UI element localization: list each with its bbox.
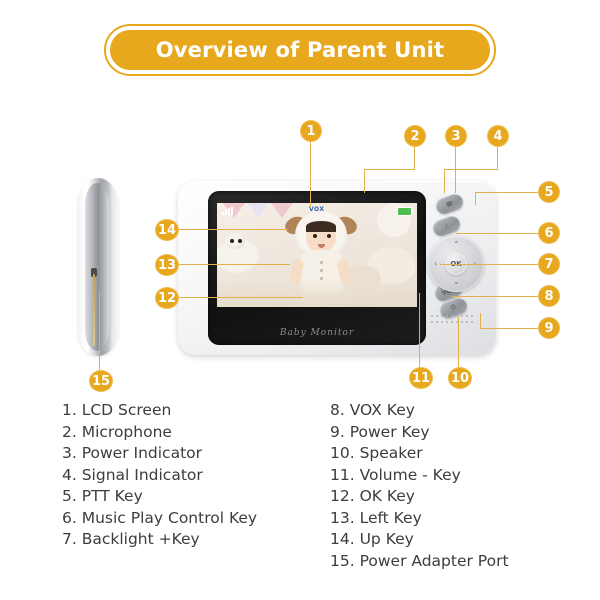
callout-badge-13: 13 <box>155 254 179 276</box>
leader-line-2b <box>364 169 415 170</box>
leader-line-5a <box>475 192 538 193</box>
signal-bars-icon <box>222 207 233 215</box>
legend-item: 8. VOX Key <box>330 400 509 422</box>
legend-item: 1. LCD Screen <box>62 400 257 422</box>
baby-outfit-button <box>320 277 323 280</box>
ptt-key[interactable]: ☎ <box>434 192 465 216</box>
legend-item: 6. Music Play Control Key <box>62 508 257 530</box>
battery-icon <box>397 207 412 216</box>
lcd-bezel: Tel KIDS VOX 2023-5-18 10:24 24℃ Voice B… <box>208 191 426 345</box>
device-brand-label: Baby Monitor <box>208 328 426 338</box>
legend-column-right: 8. VOX Key9. Power Key10. Speaker11. Vol… <box>330 400 509 572</box>
callout-badge-1: 1 <box>300 120 322 142</box>
leader-line-15 <box>99 290 100 370</box>
osd-vox-badge: VOX <box>309 206 325 213</box>
baby-outfit-button <box>320 261 323 264</box>
leader-line-5b <box>475 192 476 205</box>
lcd-screen: Tel KIDS VOX 2023-5-18 10:24 24℃ Voice <box>217 203 417 307</box>
leader-line-1 <box>310 142 311 207</box>
leader-line-9a <box>480 328 538 329</box>
parent-unit-front-view: Tel KIDS VOX 2023-5-18 10:24 24℃ Voice B… <box>178 181 496 355</box>
side-profile-edge <box>85 183 109 351</box>
callout-badge-6: 6 <box>538 222 560 244</box>
music-play-control-key[interactable]: ♪ <box>431 214 462 238</box>
callout-badge-4: 4 <box>487 125 509 147</box>
callout-badge-9: 9 <box>538 317 560 339</box>
leader-line-14 <box>178 229 288 230</box>
decor-sheep-eye <box>238 239 242 243</box>
leader-line-11 <box>419 293 420 367</box>
callout-badge-3: 3 <box>445 125 467 147</box>
legend-item: 3. Power Indicator <box>62 443 257 465</box>
legend-item: 13. Left Key <box>330 508 509 530</box>
page-title: Overview of Parent Unit <box>156 38 445 62</box>
leader-line-6 <box>456 233 538 234</box>
callout-badge-10: 10 <box>448 367 472 389</box>
baby-eye <box>327 234 331 238</box>
legend-item: 15. Power Adapter Port <box>330 551 509 573</box>
legend-item: 12. OK Key <box>330 486 509 508</box>
callout-badge-11: 11 <box>409 367 433 389</box>
callout-badge-8: 8 <box>538 285 560 307</box>
up-key[interactable]: ⌃ <box>453 241 460 249</box>
callout-badge-5: 5 <box>538 181 560 203</box>
decor-bunting <box>271 203 293 218</box>
legend-item: 11. Volume - Key <box>330 465 509 487</box>
decor-plush-sheep-head <box>225 233 245 249</box>
callout-badge-14: 14 <box>155 219 179 241</box>
leader-line-4b <box>444 169 498 170</box>
leader-line-12 <box>178 297 303 298</box>
callout-badge-2: 2 <box>404 125 426 147</box>
baby-eye <box>313 234 317 238</box>
decor-sheep-eye <box>230 239 234 243</box>
leader-line-2a <box>414 147 415 169</box>
side-profile-seam <box>93 274 95 346</box>
baby-hair <box>306 221 336 232</box>
baby-outfit-button <box>320 269 323 272</box>
leader-line-9b <box>480 313 481 328</box>
legend-item: 5. PTT Key <box>62 486 257 508</box>
osd-signal-label: Tel KIDS <box>241 206 264 212</box>
parent-unit-side-profile <box>78 178 118 356</box>
leader-line-13 <box>178 264 290 265</box>
legend-column-left: 1. LCD Screen2. Microphone3. Power Indic… <box>62 400 257 551</box>
leader-line-4c <box>444 169 445 193</box>
leader-line-4a <box>497 147 498 169</box>
callout-badge-7: 7 <box>538 253 560 275</box>
header-banner: Overview of Parent Unit <box>110 30 490 70</box>
legend-item: 9. Power Key <box>330 422 509 444</box>
legend-item: 7. Backlight +Key <box>62 529 257 551</box>
callout-badge-12: 12 <box>155 287 179 309</box>
leader-line-7 <box>440 264 538 265</box>
overview-diagram-page: Overview of Parent Unit <box>0 0 600 600</box>
leader-line-10 <box>458 317 459 367</box>
legend-item: 2. Microphone <box>62 422 257 444</box>
legend-item: 10. Speaker <box>330 443 509 465</box>
legend-item: 4. Signal Indicator <box>62 465 257 487</box>
leader-line-2c <box>364 169 365 193</box>
leader-line-8 <box>452 296 538 297</box>
legend-item: 14. Up Key <box>330 529 509 551</box>
callout-badge-15: 15 <box>89 370 113 392</box>
left-key[interactable]: ‹ <box>434 260 437 268</box>
down-key[interactable]: ⌄ <box>453 278 460 286</box>
speaker-grille-icon <box>430 313 474 325</box>
